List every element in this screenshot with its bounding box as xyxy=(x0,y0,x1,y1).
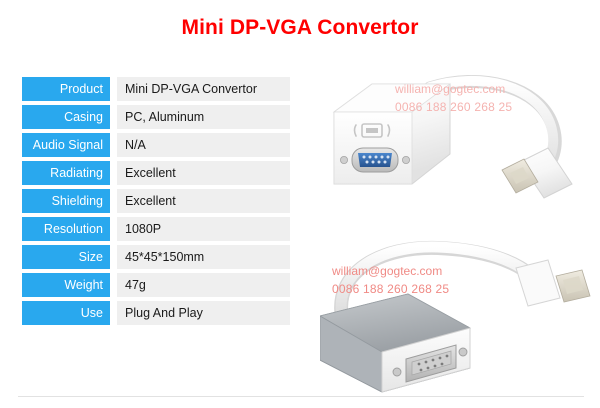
specification-table: ProductMini DP-VGA ConvertorCasingPC, Al… xyxy=(22,77,290,329)
screw-post-left xyxy=(340,156,347,163)
screw-post-right xyxy=(402,156,409,163)
spec-value: Excellent xyxy=(117,189,290,213)
product-photo-white-adapter xyxy=(320,72,594,212)
bottom-divider xyxy=(18,396,584,397)
spec-label: Casing xyxy=(22,105,110,129)
spec-label: Shielding xyxy=(22,189,110,213)
spec-value: N/A xyxy=(117,133,290,157)
product-photo-aluminum-adapter xyxy=(320,232,594,400)
spec-label: Audio Signal xyxy=(22,133,110,157)
product-spec-page: Mini DP-VGA Convertor ProductMini DP-VGA… xyxy=(0,0,600,408)
spec-row: ProductMini DP-VGA Convertor xyxy=(22,77,290,101)
white-adapter-illustration xyxy=(320,72,594,212)
spec-label: Weight xyxy=(22,273,110,297)
spec-row: CasingPC, Aluminum xyxy=(22,105,290,129)
spec-label: Use xyxy=(22,301,110,325)
spec-label: Product xyxy=(22,77,110,101)
spec-row: Size45*45*150mm xyxy=(22,245,290,269)
spec-row: Audio SignalN/A xyxy=(22,133,290,157)
spec-value: 45*45*150mm xyxy=(117,245,290,269)
spec-row: ShieldingExcellent xyxy=(22,189,290,213)
spec-value: PC, Aluminum xyxy=(117,105,290,129)
screw-post-right xyxy=(459,348,467,356)
spec-label: Resolution xyxy=(22,217,110,241)
spec-row: Resolution1080P xyxy=(22,217,290,241)
spec-row: Weight47g xyxy=(22,273,290,297)
spec-value: Plug And Play xyxy=(117,301,290,325)
page-title: Mini DP-VGA Convertor xyxy=(0,16,600,40)
mini-displayport-plug xyxy=(502,148,572,198)
spec-label: Size xyxy=(22,245,110,269)
spec-value: 1080P xyxy=(117,217,290,241)
aluminum-adapter-illustration xyxy=(320,232,594,400)
spec-row: UsePlug And Play xyxy=(22,301,290,325)
spec-label: Radiating xyxy=(22,161,110,185)
mini-displayport-plug xyxy=(516,260,590,306)
spec-value: Mini DP-VGA Convertor xyxy=(117,77,290,101)
screw-post-left xyxy=(393,368,401,376)
spec-value: Excellent xyxy=(117,161,290,185)
spec-row: RadiatingExcellent xyxy=(22,161,290,185)
spec-value: 47g xyxy=(117,273,290,297)
